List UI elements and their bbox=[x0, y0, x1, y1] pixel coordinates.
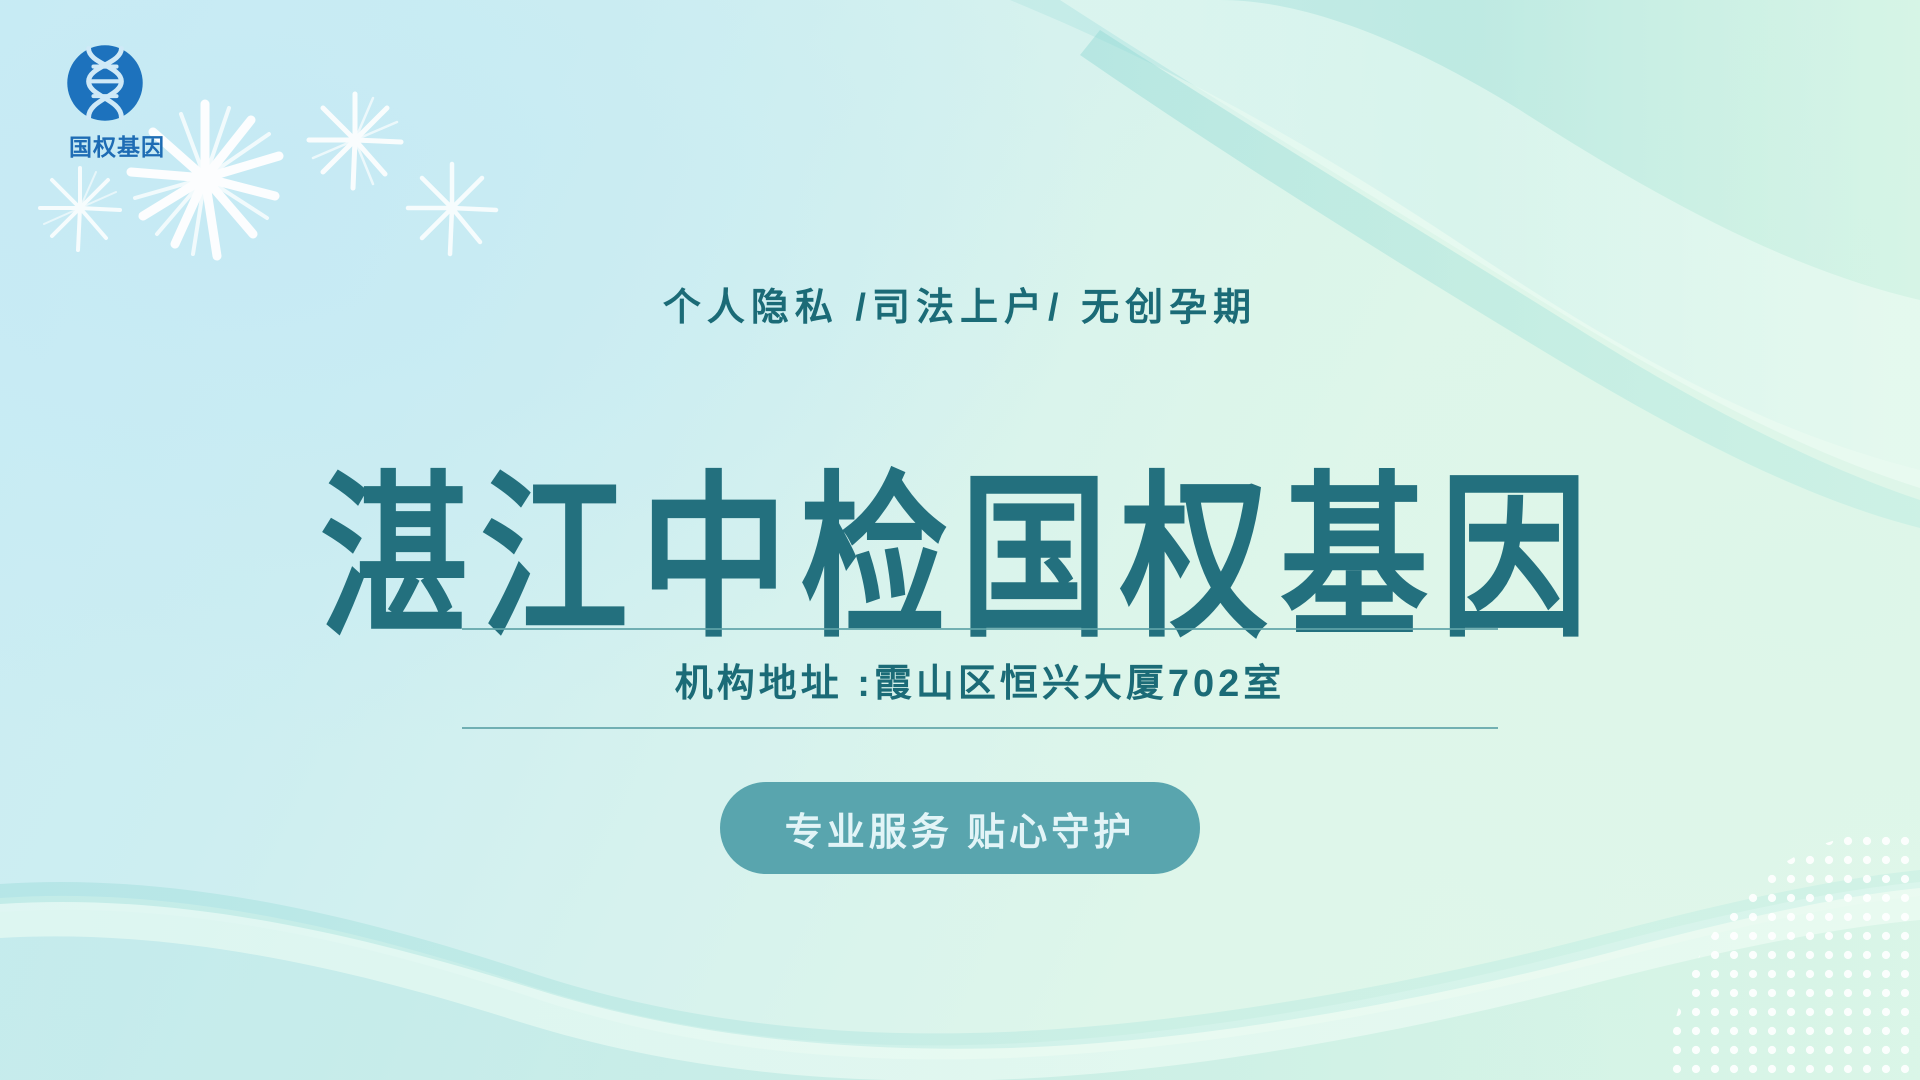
banner-content: 个人隐私 /司法上户/ 无创孕期 湛江中检国权基因 机构地址 :霞山区恒兴大厦7… bbox=[0, 0, 1920, 1080]
page-title: 湛江中检国权基因 bbox=[0, 471, 1920, 649]
tagline-badge: 专业服务 贴心守护 bbox=[720, 782, 1200, 874]
divider-bottom bbox=[462, 727, 1498, 729]
promo-banner: 国权基因 个人隐私 /司法上户/ 无创孕期 湛江中检国权基因 机构地址 :霞山区… bbox=[0, 0, 1920, 1080]
divider-top bbox=[462, 628, 1498, 630]
address-block: 机构地址 :霞山区恒兴大厦702室 bbox=[462, 628, 1498, 729]
service-subtitle: 个人隐私 /司法上户/ 无创孕期 bbox=[0, 276, 1920, 331]
address-text: 机构地址 :霞山区恒兴大厦702室 bbox=[462, 630, 1498, 727]
